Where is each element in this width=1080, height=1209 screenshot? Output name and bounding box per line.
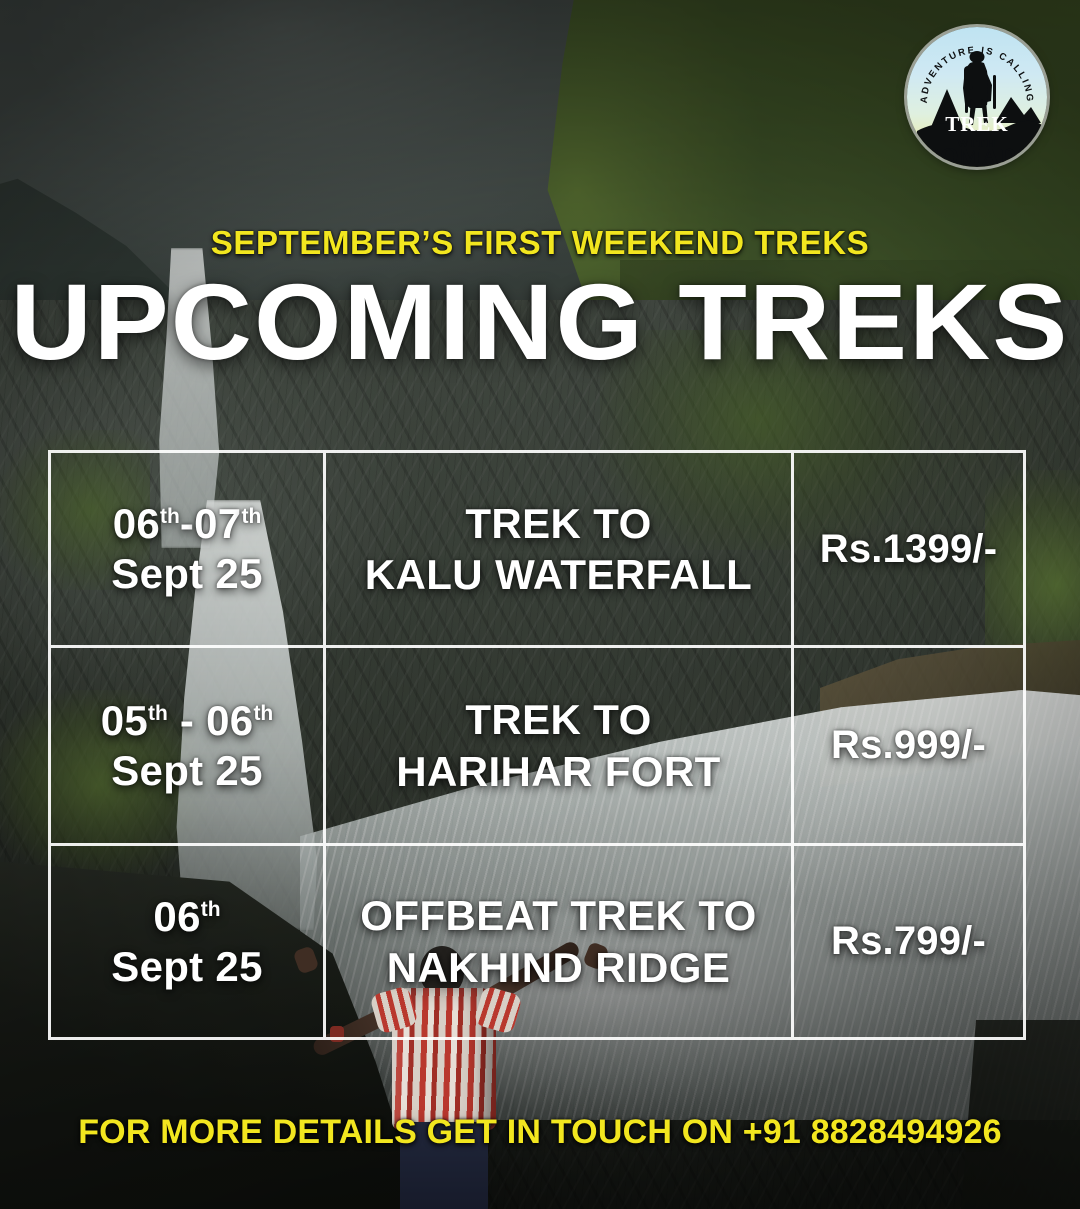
date-ordinal: th	[160, 505, 180, 528]
poster-canvas: ADVENTURE IS CALLING TREK WITH NOMADS SE…	[0, 0, 1080, 1209]
date-day: 06	[113, 500, 160, 547]
date-ordinal: th	[253, 702, 273, 725]
trek-line-1: TREK TO	[465, 696, 651, 743]
trek-name-text: TREK TO KALU WATERFALL	[365, 498, 752, 600]
page-title: UPCOMING TREKS	[0, 268, 1080, 376]
logo-trek-text: TREK	[945, 112, 1009, 136]
table-row-0-price-cell: Rs.1399/-	[794, 453, 1023, 648]
date-ordinal: th	[148, 702, 168, 725]
price-text: Rs.999/-	[831, 723, 986, 768]
table-row-1-trek-cell: TREK TO HARIHAR FORT	[326, 648, 794, 846]
trek-line-2: KALU WATERFALL	[365, 551, 752, 598]
date-ordinal: th	[201, 898, 221, 921]
table-row-2-date-cell: 06th Sept 25	[51, 846, 326, 1037]
date-day: 05	[101, 697, 148, 744]
date-text: 06th Sept 25	[111, 892, 263, 991]
trek-name-text: OFFBEAT TREK TO NAKHIND RIDGE	[360, 890, 756, 992]
date-separator: -	[168, 697, 206, 744]
date-separator: -	[180, 500, 194, 547]
table-row-1-price-cell: Rs.999/-	[794, 648, 1023, 846]
price-text: Rs.799/-	[831, 919, 986, 964]
trek-line-1: OFFBEAT TREK TO	[360, 892, 756, 939]
date-text: 05th - 06th Sept 25	[101, 696, 274, 795]
table-row-1-date-cell: 05th - 06th Sept 25	[51, 648, 326, 846]
brand-logo[interactable]: ADVENTURE IS CALLING TREK WITH NOMADS	[907, 27, 1047, 167]
trek-line-1: TREK TO	[465, 500, 651, 547]
date-month: Sept 25	[111, 747, 263, 794]
date-day2: 07	[194, 500, 241, 547]
date-day2: 06	[206, 697, 253, 744]
contact-footer: FOR MORE DETAILS GET IN TOUCH ON +91 882…	[0, 1113, 1080, 1152]
date-day: 06	[153, 893, 200, 940]
trek-line-2: NAKHIND RIDGE	[387, 944, 731, 991]
trek-line-2: HARIHAR FORT	[396, 748, 720, 795]
table-row-0-date-cell: 06th-07th Sept 25	[51, 453, 326, 648]
kicker-text: SEPTEMBER’S FIRST WEEKEND TREKS	[0, 224, 1080, 262]
date-ordinal: th	[241, 505, 261, 528]
date-text: 06th-07th Sept 25	[111, 499, 263, 598]
date-month: Sept 25	[111, 943, 263, 990]
trek-name-text: TREK TO HARIHAR FORT	[396, 694, 720, 796]
price-text: Rs.1399/-	[820, 527, 997, 572]
table-row-2-trek-cell: OFFBEAT TREK TO NAKHIND RIDGE	[326, 846, 794, 1037]
date-month: Sept 25	[111, 550, 263, 597]
logo-artwork: ADVENTURE IS CALLING TREK WITH NOMADS	[907, 27, 1047, 167]
trek-schedule-table: 06th-07th Sept 25 TREK TO KALU WATERFALL…	[48, 450, 1026, 1040]
table-row-0-trek-cell: TREK TO KALU WATERFALL	[326, 453, 794, 648]
table-row-2-price-cell: Rs.799/-	[794, 846, 1023, 1037]
